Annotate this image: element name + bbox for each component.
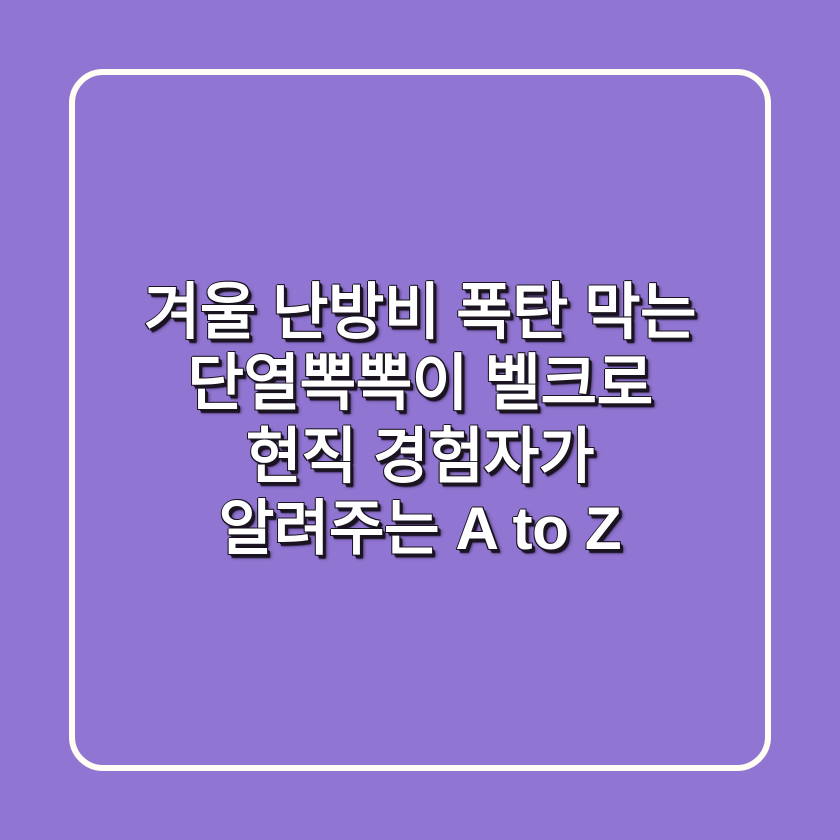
thumbnail-card: 겨울 난방비 폭탄 막는 단열뽁뽁이 벨크로 현직 경험자가 알려주는 A to… (0, 0, 840, 840)
headline-line-1: 겨울 난방비 폭탄 막는 (78, 276, 762, 348)
headline-line-3: 현직 경험자가 (78, 420, 762, 492)
headline-line-4: 알려주는 A to Z (78, 492, 762, 564)
headline-line-2: 단열뽁뽁이 벨크로 (78, 348, 762, 420)
headline-block: 겨울 난방비 폭탄 막는 단열뽁뽁이 벨크로 현직 경험자가 알려주는 A to… (0, 0, 840, 840)
